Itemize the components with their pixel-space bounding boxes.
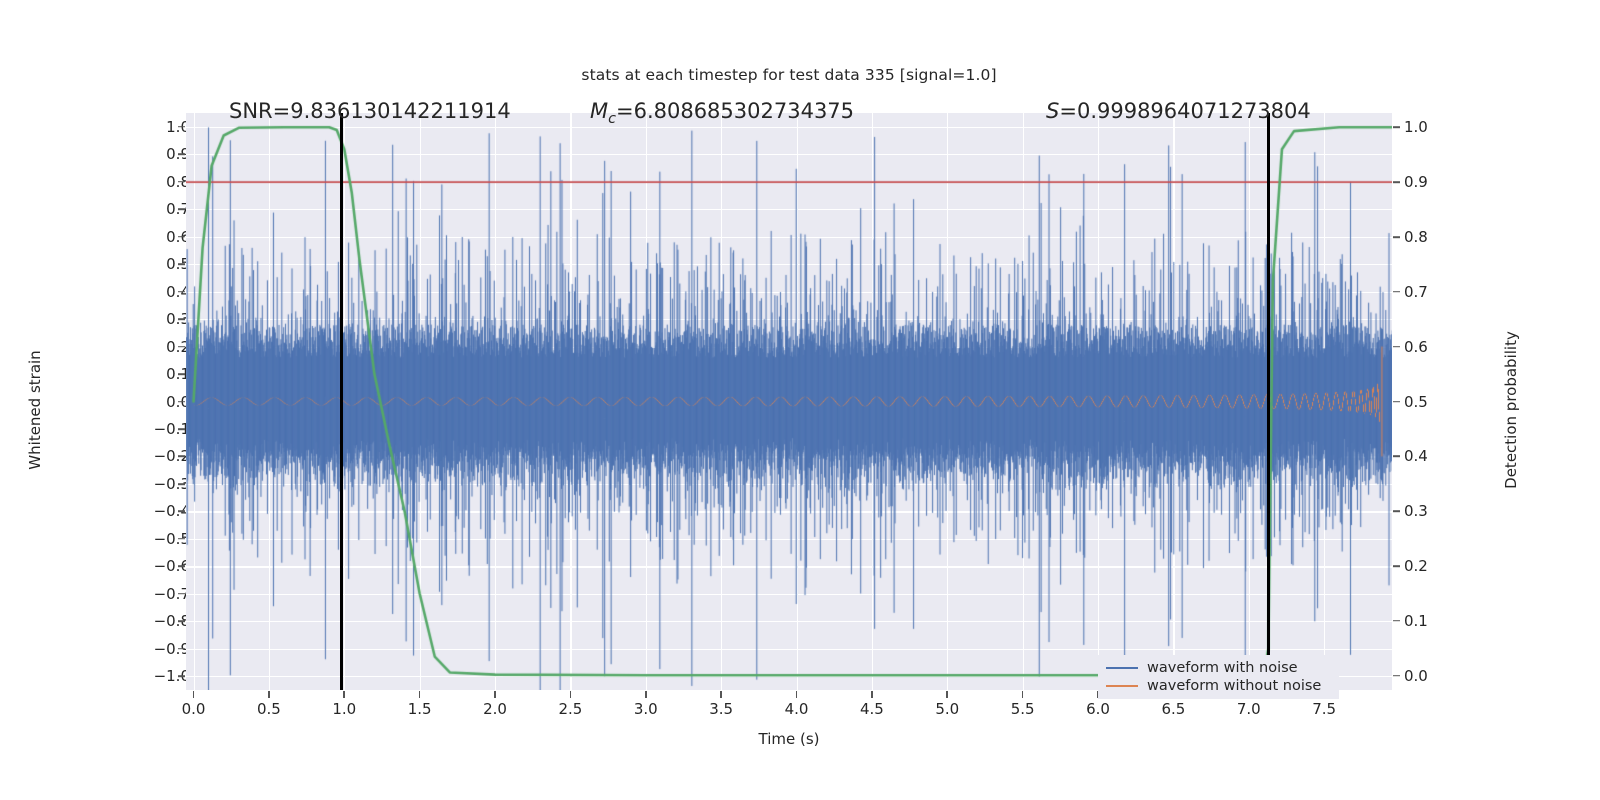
x-tick-1: 0.5 <box>239 700 299 718</box>
x-tick-mark-2 <box>343 691 345 698</box>
y-tick-mark-right-2 <box>1393 236 1400 238</box>
x-tick-14: 7.0 <box>1219 700 1279 718</box>
y-tick-mark-right-3 <box>1393 291 1400 293</box>
legend-item-noise: waveform with noise <box>1106 659 1331 677</box>
x-tick-0: 0.0 <box>164 700 224 718</box>
y-tick-mark-left-12 <box>178 456 185 458</box>
x-tick-6: 3.0 <box>616 700 676 718</box>
y-tick-right-3: 0.7 <box>1404 283 1464 301</box>
y-tick-right-6: 0.4 <box>1404 447 1464 465</box>
y-tick-mark-left-20 <box>178 675 185 677</box>
y-tick-mark-left-14 <box>178 511 185 513</box>
x-tick-4: 2.0 <box>465 700 525 718</box>
y-tick-mark-right-8 <box>1393 565 1400 567</box>
x-tick-mark-4 <box>494 691 496 698</box>
y-tick-mark-left-9 <box>178 373 185 375</box>
x-tick-mark-3 <box>419 691 421 698</box>
annotation-s-value: 0.9998964071273804 <box>1077 99 1311 123</box>
legend-swatch-clean <box>1106 685 1138 688</box>
annotation-snr: SNR=9.836130142211914 <box>229 99 511 123</box>
y-tick-right-9: 0.1 <box>1404 612 1464 630</box>
y-tick-mark-right-1 <box>1393 181 1400 183</box>
y-tick-mark-left-17 <box>178 593 185 595</box>
marker-line-1 <box>1267 113 1270 690</box>
y-tick-mark-left-10 <box>178 401 185 403</box>
x-tick-mark-11 <box>1022 691 1024 698</box>
y-tick-mark-left-7 <box>178 318 185 320</box>
y-tick-mark-right-9 <box>1393 620 1400 622</box>
y-tick-mark-left-1 <box>178 153 185 155</box>
y-axis-label-left: Whitened strain <box>26 310 44 510</box>
x-tick-2: 1.0 <box>314 700 374 718</box>
x-tick-mark-5 <box>570 691 572 698</box>
plot-area <box>186 113 1392 690</box>
annotation-snr-value: 9.836130142211914 <box>290 99 510 123</box>
x-tick-7: 3.5 <box>691 700 751 718</box>
x-tick-13: 6.5 <box>1143 700 1203 718</box>
x-tick-11: 5.5 <box>993 700 1053 718</box>
y-tick-mark-right-4 <box>1393 346 1400 348</box>
annotation-snr-label: SNR= <box>229 99 290 123</box>
y-tick-right-7: 0.3 <box>1404 502 1464 520</box>
figure: stats at each timestep for test data 335… <box>0 0 1600 800</box>
y-tick-mark-right-0 <box>1393 126 1400 128</box>
annotation-mc-symbol: M <box>590 99 608 123</box>
x-tick-mark-0 <box>193 691 195 698</box>
y-tick-mark-left-0 <box>178 126 185 128</box>
annotation-mc-subscript: c <box>608 111 616 127</box>
annotation-s-symbol: S <box>1046 99 1059 123</box>
y-tick-right-5: 0.5 <box>1404 393 1464 411</box>
x-tick-mark-7 <box>720 691 722 698</box>
x-tick-8: 4.0 <box>767 700 827 718</box>
x-tick-3: 1.5 <box>390 700 450 718</box>
y-tick-mark-right-6 <box>1393 456 1400 458</box>
y-tick-mark-left-8 <box>178 346 185 348</box>
x-tick-mark-10 <box>946 691 948 698</box>
legend-label-noise: waveform with noise <box>1147 660 1298 676</box>
y-tick-mark-left-13 <box>178 483 185 485</box>
marker-lines <box>186 113 1392 690</box>
y-tick-mark-left-5 <box>178 263 185 265</box>
x-tick-mark-1 <box>268 691 270 698</box>
x-tick-9: 4.5 <box>842 700 902 718</box>
legend-label-clean: waveform without noise <box>1147 678 1321 694</box>
x-tick-12: 6.0 <box>1068 700 1128 718</box>
x-tick-10: 5.0 <box>917 700 977 718</box>
y-tick-mark-left-18 <box>178 621 185 623</box>
y-tick-mark-left-2 <box>178 181 185 183</box>
y-axis-label-right: Detection probability <box>1502 290 1520 530</box>
annotation-s-equals: = <box>1059 99 1077 123</box>
annotation-mc-value: 6.808685302734375 <box>634 99 854 123</box>
x-tick-mark-9 <box>871 691 873 698</box>
legend-swatch-noise <box>1106 667 1138 670</box>
annotation-chirp-mass: Mc=6.808685302734375 <box>590 99 854 127</box>
legend: waveform with noise waveform without noi… <box>1098 655 1339 699</box>
y-tick-mark-left-16 <box>178 566 185 568</box>
annotation-significance: S=0.9998964071273804 <box>1046 99 1311 123</box>
x-axis-label: Time (s) <box>186 730 1392 748</box>
y-tick-mark-left-19 <box>178 648 185 650</box>
marker-line-0 <box>340 113 343 690</box>
y-tick-right-8: 0.2 <box>1404 557 1464 575</box>
y-tick-mark-left-11 <box>178 428 185 430</box>
y-tick-right-0: 1.0 <box>1404 118 1464 136</box>
y-tick-right-2: 0.8 <box>1404 228 1464 246</box>
y-tick-mark-right-7 <box>1393 510 1400 512</box>
y-tick-mark-left-15 <box>178 538 185 540</box>
y-tick-mark-right-10 <box>1393 675 1400 677</box>
x-tick-mark-8 <box>796 691 798 698</box>
y-tick-mark-left-3 <box>178 208 185 210</box>
y-tick-right-10: 0.0 <box>1404 667 1464 685</box>
annotation-mc-equals: = <box>616 99 634 123</box>
x-tick-mark-6 <box>645 691 647 698</box>
x-tick-5: 2.5 <box>540 700 600 718</box>
y-tick-right-1: 0.9 <box>1404 173 1464 191</box>
y-tick-mark-left-4 <box>178 236 185 238</box>
legend-item-clean: waveform without noise <box>1106 677 1331 695</box>
page-title: stats at each timestep for test data 335… <box>186 66 1392 84</box>
x-tick-15: 7.5 <box>1294 700 1354 718</box>
y-tick-right-4: 0.6 <box>1404 338 1464 356</box>
y-tick-mark-right-5 <box>1393 401 1400 403</box>
y-tick-mark-left-6 <box>178 291 185 293</box>
